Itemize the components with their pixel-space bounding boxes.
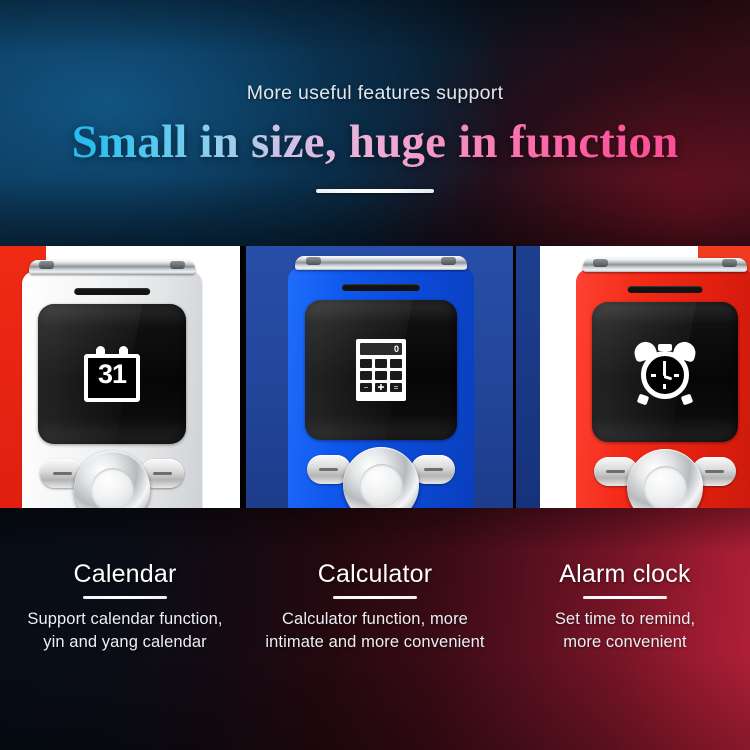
calculator-plus-key: ✚ [375,383,387,392]
calculator-key [375,359,387,368]
feature-column-calculator: Calculator Calculator function, more int… [250,508,500,654]
feature-description-line2: more convenient [563,633,687,651]
header-subtitle: More useful features support [0,82,750,105]
header-section: More useful features support Small in si… [0,0,750,246]
phone-top-cap [583,258,747,272]
phone-top-cap [295,256,466,270]
feature-description-line1: Support calendar function, [27,610,222,628]
cap-nub-right [441,257,456,265]
phone-keypad [288,445,474,508]
feature-description-line1: Set time to remind, [555,610,695,628]
feature-description-line2: yin and yang calendar [43,633,207,651]
feature-description-line1: Calculator function, more [282,610,468,628]
dpad-navigation [343,447,419,508]
feature-title: Calendar [0,560,250,589]
feature-columns: Calendar Support calendar function, yin … [0,508,750,654]
phone-red [576,258,750,508]
phone-body [576,269,750,508]
feature-title: Alarm clock [500,560,750,589]
feature-captions-section: Calendar Support calendar function, yin … [0,508,750,750]
feature-description: Calculator function, more intimate and m… [250,608,500,654]
phone-screen: 0 − ✚ = [305,300,458,440]
phone-screen [592,302,738,442]
calculator-key [360,371,372,380]
phone-blue: 0 − ✚ = [288,256,474,508]
earpiece-speaker [342,284,420,291]
dpad-navigation [74,451,150,508]
calendar-day-number: 31 [84,358,140,390]
phone-body: 31 [22,271,202,508]
calculator-key [390,359,402,368]
phone-white: 31 [22,260,202,508]
phone-keypad [576,447,750,508]
calculator-icon: 0 − ✚ = [356,339,406,401]
panel-calculator: 0 − ✚ = [246,246,513,508]
alarm-tick [651,374,656,377]
alarm-top-button [658,344,672,351]
alarm-clock-icon [634,342,696,402]
calculator-keypad: − ✚ = [360,359,402,392]
feature-title-rule [83,596,167,599]
calculator-equals-key: = [390,383,402,392]
phone-keypad [22,449,202,508]
panel-alarm [516,246,750,508]
promo-banner: More useful features support Small in si… [0,0,750,750]
panel-accent-stripe [516,246,540,508]
feature-column-calendar: Calendar Support calendar function, yin … [0,508,250,654]
alarm-tick [663,384,666,389]
product-image-strip: 31 [0,246,750,508]
feature-description: Support calendar function, yin and yang … [0,608,250,654]
feature-description: Set time to remind, more convenient [500,608,750,654]
cap-nub-left [39,261,54,269]
calculator-key [390,371,402,380]
alarm-foot-left [637,394,649,406]
header-headline: Small in size, huge in function [0,115,750,169]
alarm-tick [674,374,679,377]
alarm-clock-face [641,351,689,399]
feature-column-alarm: Alarm clock Set time to remind, more con… [500,508,750,654]
phone-screen: 31 [38,304,186,444]
earpiece-speaker [74,288,150,295]
alarm-hour-hand [663,364,666,375]
calculator-key [360,359,372,368]
dpad-navigation [627,449,703,508]
feature-title-rule [583,596,667,599]
panel-calendar: 31 [0,246,240,508]
feature-title: Calculator [250,560,500,589]
alarm-minute-hand [665,375,673,380]
cap-nub-left [306,257,321,265]
phone-body: 0 − ✚ = [288,267,474,508]
cap-nub-right [722,259,737,267]
earpiece-speaker [628,286,703,293]
header-divider [316,189,434,193]
calculator-display: 0 [360,343,402,355]
cap-nub-right [170,261,185,269]
feature-description-line2: intimate and more convenient [265,633,484,651]
phone-top-cap [29,260,195,274]
feature-title-rule [333,596,417,599]
calculator-key [375,371,387,380]
cap-nub-left [593,259,608,267]
alarm-foot-right [681,394,693,406]
calculator-minus-key: − [360,383,372,392]
calendar-icon: 31 [84,346,140,402]
